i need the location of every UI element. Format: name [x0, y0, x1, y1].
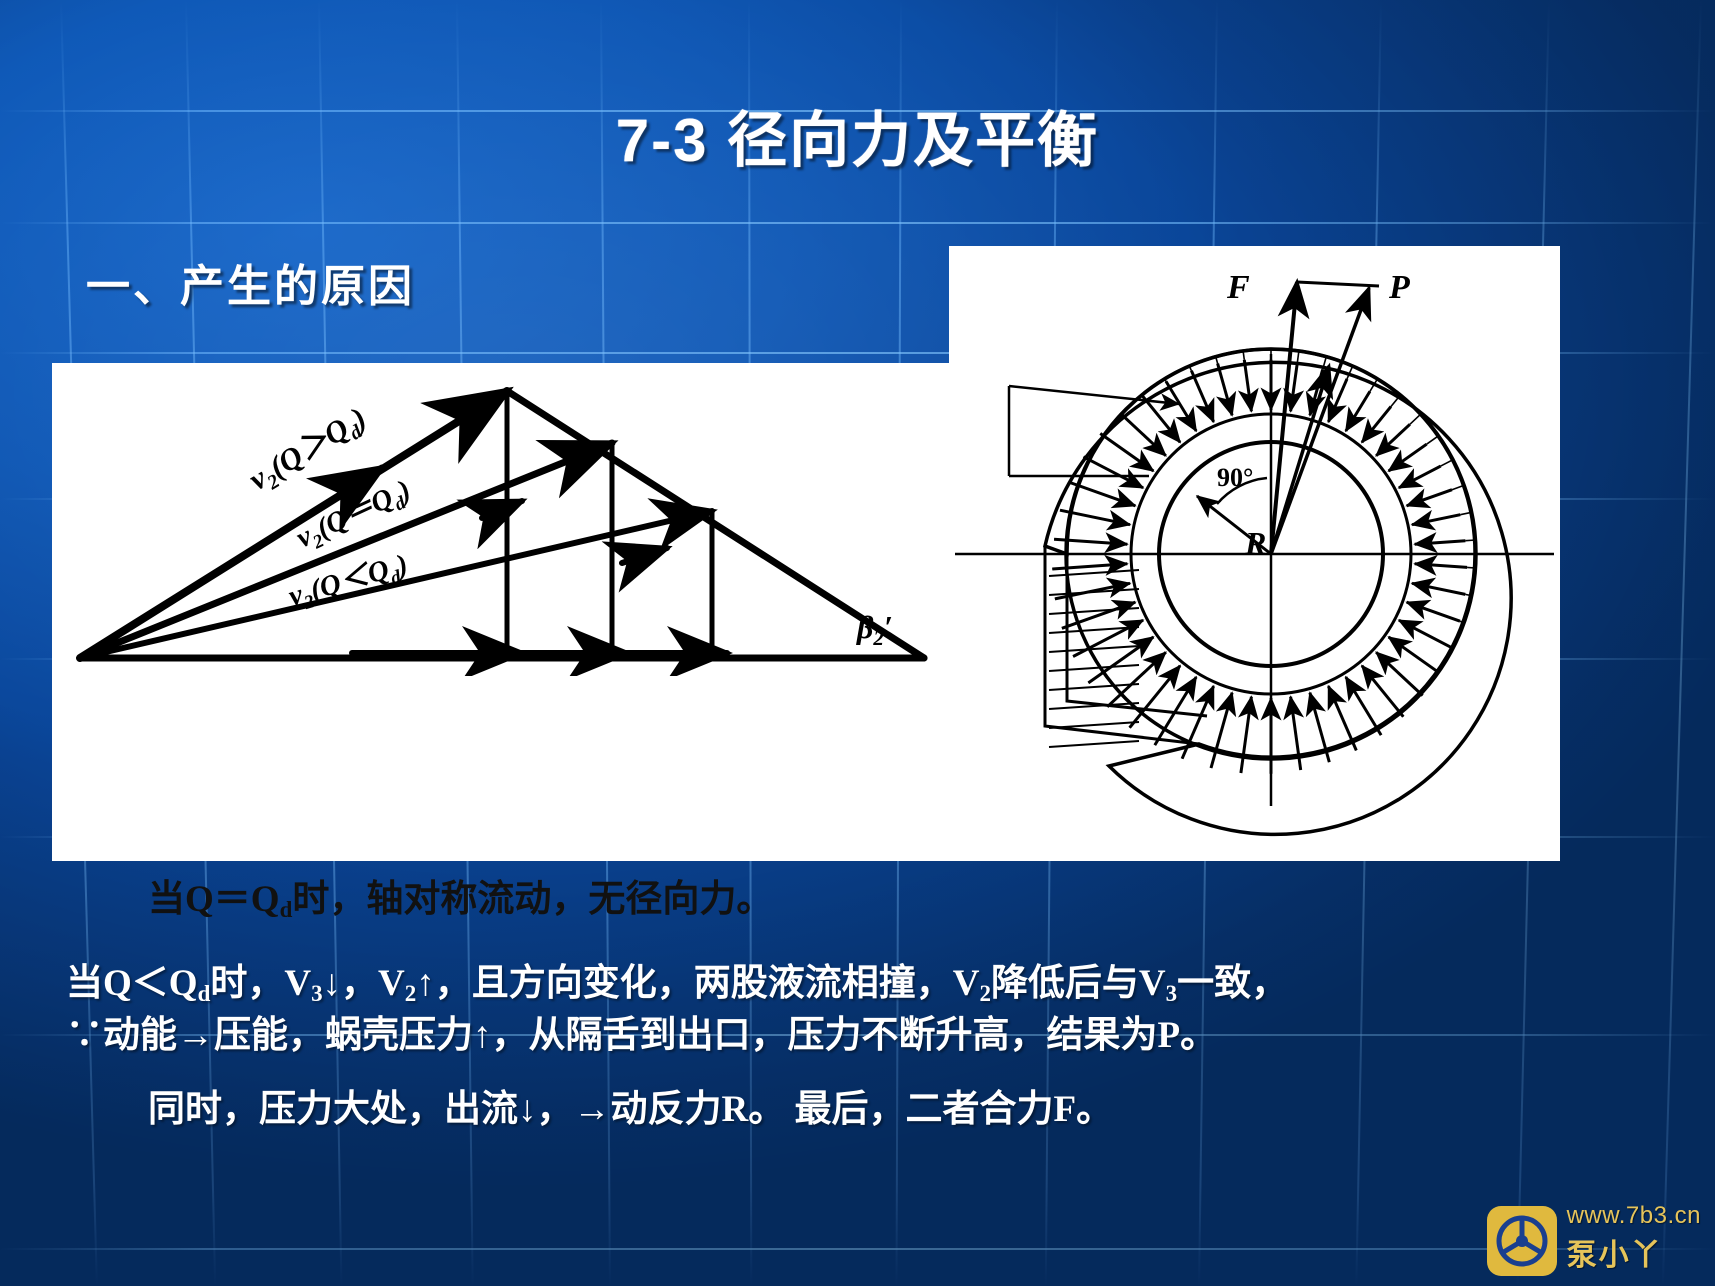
force-label-R: R — [1244, 525, 1266, 561]
radial-force-svg: F P R 90° — [949, 246, 1560, 861]
bl2-p6: 一致， — [1177, 963, 1288, 1004]
section-heading: 一、产生的原因 — [86, 250, 415, 314]
white-backdrop-panel — [52, 676, 949, 861]
bl2-s5: 3 — [1166, 981, 1177, 1006]
body-line-1-sub: d — [280, 897, 293, 922]
watermark-logo-icon — [1485, 1204, 1559, 1278]
velocity-label-low: v2(Q＜Qd) — [285, 548, 413, 617]
force-label-P: P — [1388, 269, 1410, 306]
bl2-p1: 当Q＜Q — [66, 963, 198, 1004]
radial-force-figure: F P R 90° — [949, 246, 1560, 861]
page-title: 7-3 径向力及平衡 — [0, 92, 1715, 179]
beta2-angle-label: β2′ — [856, 609, 893, 650]
force-label-F: F — [1226, 269, 1250, 306]
body-line-1-suffix: 时，轴对称流动，无径向力。 — [292, 879, 773, 920]
body-line-1-prefix: 当Q＝Q — [148, 879, 280, 920]
body-line-4: 同时，压力大处，出流↓，→动反力R。 最后，二者合力F。 — [148, 1088, 1113, 1132]
bl2-p4: ↑，且方向变化，两股液流相撞，V — [416, 963, 979, 1004]
watermark-name: 泵小丫 — [1567, 1230, 1663, 1274]
velocity-triangle-figure: v2(Q＞Qd) v2(Q＝Qd) v2(Q＜Qd) β2′ — [52, 363, 949, 676]
bl2-s2: 3 — [311, 981, 322, 1006]
body-line-1: 当Q＝Qd时，轴对称流动，无径向力。 — [148, 878, 773, 922]
watermark-text: www.7b3.cn 泵小丫 — [1567, 1202, 1701, 1278]
bl2-p3: ↓，V — [323, 963, 405, 1004]
angle-label-90: 90° — [1217, 463, 1253, 492]
watermark: www.7b3.cn 泵小丫 — [1485, 1202, 1701, 1278]
body-line-2: 当Q＜Qd时，V3↓，V2↑，且方向变化，两股液流相撞，V2降低后与V3一致， — [66, 962, 1288, 1006]
bl2-s4: 2 — [979, 981, 990, 1006]
bl2-p2: 时，V — [210, 963, 311, 1004]
watermark-url: www.7b3.cn — [1567, 1202, 1701, 1230]
bl2-s3: 2 — [405, 981, 416, 1006]
body-line-3: ∵动能→压能，蜗壳压力↑，从隔舌到出口，压力不断升高，结果为P。 — [66, 1014, 1217, 1058]
bl2-s1: d — [198, 981, 211, 1006]
velocity-triangle-svg: v2(Q＞Qd) v2(Q＝Qd) v2(Q＜Qd) β2′ — [52, 363, 949, 676]
bl2-p5: 降低后与V — [991, 963, 1166, 1004]
slide-canvas: 7-3 径向力及平衡 一、产生的原因 — [0, 0, 1715, 1286]
